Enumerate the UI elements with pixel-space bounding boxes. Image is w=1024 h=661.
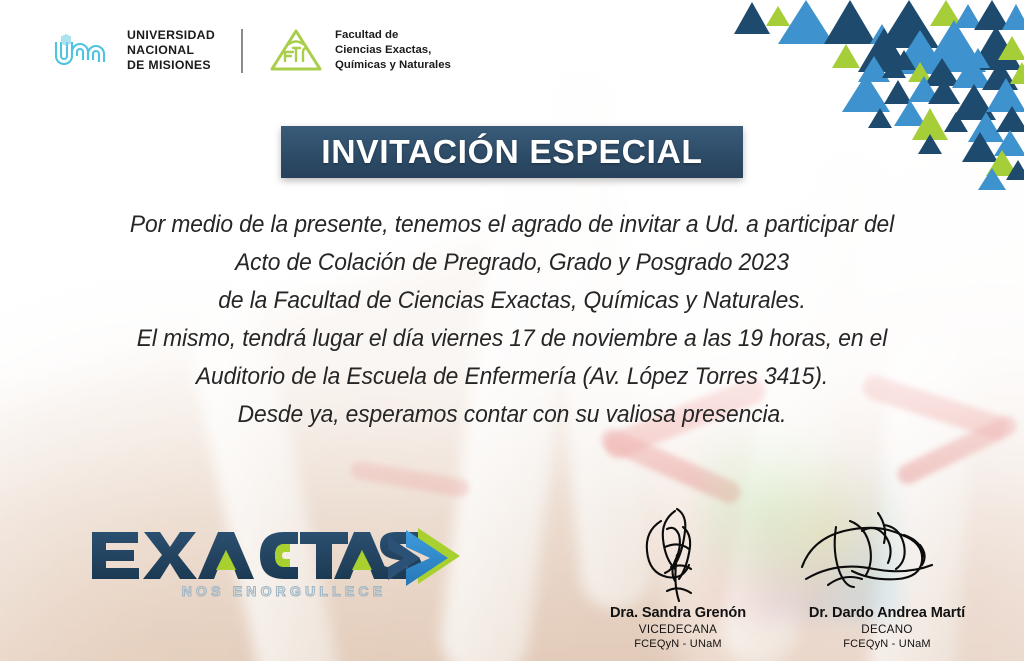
- invitation-title-banner: INVITACIÓN ESPECIAL: [281, 126, 743, 178]
- body-line-4: El mismo, tendrá lugar el día viernes 17…: [94, 320, 931, 358]
- body-line-2: Acto de Colación de Pregrado, Grado y Po…: [94, 244, 931, 282]
- invitation-body: Por medio de la presente, tenemos el agr…: [62, 206, 962, 434]
- body-line-3: de la Facultad de Ciencias Exactas, Quím…: [94, 282, 931, 320]
- faculty-name: Facultad de Ciencias Exactas, Químicas y…: [335, 28, 451, 72]
- faculty-name-line-1: Facultad de: [335, 28, 451, 43]
- exactas-wordmark: [92, 532, 422, 579]
- signature-role: VICEDECANA: [575, 622, 781, 637]
- body-line-5: Auditorio de la Escuela de Enfermería (A…: [94, 358, 931, 396]
- page-title: INVITACIÓN ESPECIAL: [321, 133, 702, 171]
- header-logos: UNIVERSIDAD NACIONAL DE MISIONES Facul: [52, 28, 451, 73]
- signature-name: Dr. Dardo Andrea Martí: [779, 605, 995, 622]
- signature-block-decano: Dr. Dardo Andrea Martí DECANO FCEQyN - U…: [779, 505, 995, 651]
- signature-org: FCEQyN - UNaM: [575, 637, 781, 651]
- fceqyn-triangle-icon: [269, 28, 323, 72]
- university-logo-block: UNIVERSIDAD NACIONAL DE MISIONES: [52, 28, 215, 73]
- exactas-logo: NOS ENORGULLECE: [88, 524, 478, 602]
- university-name-line-2: NACIONAL: [127, 43, 215, 58]
- signature-name: Dra. Sandra Grenón: [575, 605, 781, 622]
- handwritten-signature-icon: [792, 505, 982, 605]
- body-line-1: Por medio de la presente, tenemos el agr…: [94, 206, 931, 244]
- handwritten-signature-icon: [603, 505, 753, 605]
- unm-monogram-icon: [52, 30, 114, 72]
- faculty-name-line-3: Químicas y Naturales: [335, 58, 451, 73]
- signature-block-vicedecana: Dra. Sandra Grenón VICEDECANA FCEQyN - U…: [575, 505, 781, 651]
- faculty-logo-block: Facultad de Ciencias Exactas, Químicas y…: [269, 28, 451, 72]
- invitation-card: UNIVERSIDAD NACIONAL DE MISIONES Facul: [0, 0, 1024, 661]
- exactas-tagline: NOS ENORGULLECE: [182, 583, 387, 599]
- university-name-line-1: UNIVERSIDAD: [127, 28, 215, 43]
- signature-role: DECANO: [779, 622, 995, 637]
- university-name: UNIVERSIDAD NACIONAL DE MISIONES: [127, 28, 215, 73]
- university-name-line-3: DE MISIONES: [127, 58, 215, 73]
- signature-org: FCEQyN - UNaM: [779, 637, 995, 651]
- triangle-mosaic-icon: [734, 0, 1024, 200]
- body-line-6: Desde ya, esperamos contar con su valios…: [94, 396, 931, 434]
- vertical-divider-icon: [241, 29, 243, 73]
- faculty-name-line-2: Ciencias Exactas,: [335, 43, 451, 58]
